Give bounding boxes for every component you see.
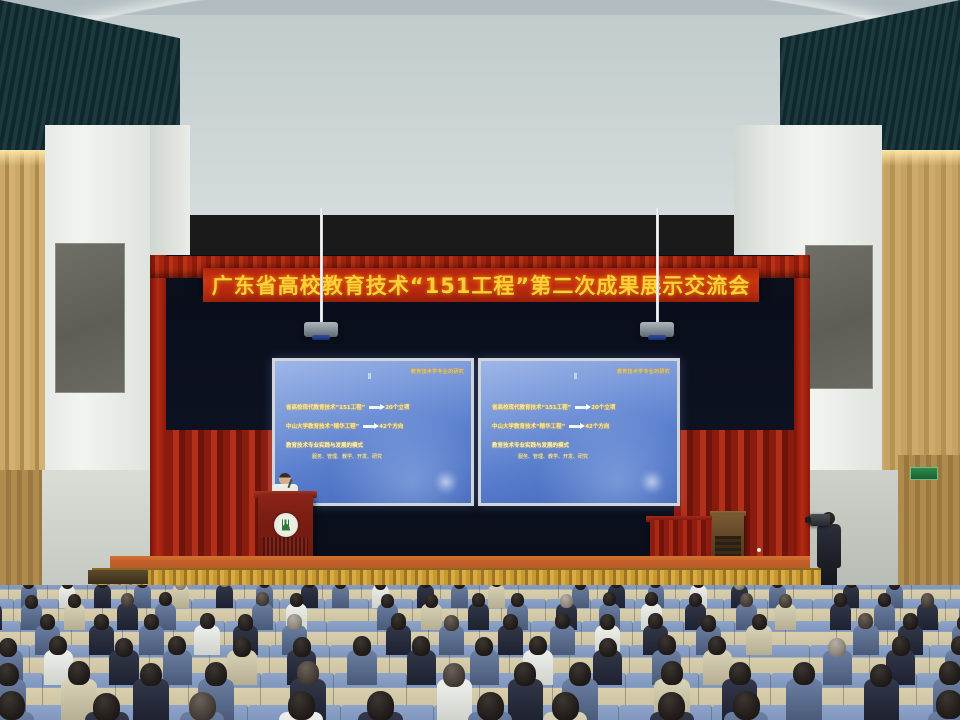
proscenium-frame-left (150, 255, 166, 575)
audience-member-head (555, 613, 570, 629)
audience-member-head (560, 594, 573, 608)
video-camera-icon (810, 514, 830, 526)
slide-row-2-text-right: 中山大学教育技术“精华工程” (492, 422, 565, 430)
audience-member-head (200, 613, 215, 629)
audience-member-head (233, 637, 251, 656)
slide-row-1-value-right: 20个立项 (591, 403, 615, 411)
slide-header-bullet-right (574, 373, 577, 379)
audience-member-head (0, 691, 25, 720)
projector-mount-right (656, 208, 659, 323)
slide-surface-left: 教育技术学专业的研究 省高校现代教育技术“151工程” 20个立项 中山大学教育… (275, 361, 471, 503)
slide-row-1-right: 省高校现代教育技术“151工程” 20个立项 (492, 403, 669, 411)
audience-member-head (40, 614, 55, 630)
audience-member-head (834, 593, 847, 607)
stage-object-4 (757, 548, 761, 552)
audience-member-head (921, 593, 934, 607)
audience-member-head (287, 614, 302, 630)
audience-member-head (475, 637, 493, 656)
audience-member-head (878, 593, 891, 607)
slide-row-1-text-left: 省高校现代教育技术“151工程” (286, 403, 365, 411)
audience-member-head (552, 692, 579, 720)
audience-member-head (892, 636, 910, 655)
audience-member-head (575, 585, 586, 590)
audience-member-head (752, 614, 767, 630)
slide-header-left: 教育技术学专业的研究 (411, 368, 464, 375)
proscenium-frame-right (794, 255, 810, 575)
slide-body-right: 省高校现代教育技术“151工程” 20个立项 中山大学教育技术“精华工程” 42… (492, 403, 669, 460)
slide-body-left: 省高校现代教育技术“151工程” 20个立项 中山大学教育技术“精华工程” 42… (286, 403, 463, 460)
audience-member-head (115, 638, 133, 657)
slide-row-2-value-right: 42个方向 (585, 422, 609, 430)
videographer-body (817, 524, 841, 568)
event-banner-text: 广东省高校教育技术“151工程”第二次成果展示交流会 (212, 270, 750, 300)
audience-member-head (159, 592, 172, 606)
audience-member-head (648, 613, 663, 629)
wood-base-left (0, 470, 42, 590)
auditorium-photo: 广东省高校教育技术“151工程”第二次成果展示交流会 教育技术学专业的研究 省高… (0, 0, 960, 720)
audience-member-head (779, 594, 792, 608)
audience-member-head (205, 662, 227, 686)
audience-member-head (689, 593, 702, 607)
audience-member-head (529, 636, 547, 655)
acoustic-panel-left (55, 243, 125, 393)
audience-member-head (68, 661, 90, 685)
audience-member-head (94, 614, 109, 630)
audience-member-head (293, 637, 311, 656)
projector-left (304, 322, 338, 337)
audience-member-head (569, 662, 591, 686)
projection-screen-right: 教育技术学专业的研究 省高校现代教育技术“151工程” 20个立项 中山大学教育… (478, 358, 680, 506)
audience-member-head (511, 593, 524, 607)
audience-member-head (599, 638, 617, 657)
projector-mount-left (320, 208, 323, 323)
arrow-icon (369, 406, 381, 409)
arrow-icon (575, 406, 587, 409)
audience-member-head (444, 615, 459, 631)
audience-member-head (381, 594, 394, 608)
audience-member-head (189, 692, 216, 720)
slide-row-2-text-left: 中山大学教育技术“精华工程” (286, 422, 359, 430)
audience-member-head (858, 613, 873, 629)
audience-member-head (425, 594, 438, 608)
slide-row-2-right: 中山大学教育技术“精华工程” 42个方向 (492, 422, 669, 430)
audience-member-head (793, 662, 815, 686)
slide-row-1-left: 省高校现代教育技术“151工程” 20个立项 (286, 403, 463, 411)
audience-member-head (658, 635, 676, 654)
audience-member-head (238, 614, 253, 630)
event-banner: 广东省高校教育技术“151工程”第二次成果展示交流会 (203, 268, 759, 302)
slide-row-2-value-left: 42个方向 (379, 422, 403, 430)
projection-screen-left: 教育技术学专业的研究 省高校现代教育技术“151工程” 20个立项 中山大学教育… (272, 358, 474, 506)
videographer (812, 512, 846, 590)
slide-decoration-right (639, 469, 665, 495)
audience-member-head (472, 593, 485, 607)
audience-member-head (168, 636, 186, 655)
audience-member-head (870, 664, 892, 688)
audience-member-head (443, 663, 465, 687)
audience-member-head (0, 663, 19, 687)
audience-member-head (68, 594, 81, 608)
projector-right (640, 322, 674, 337)
audience-member-head (353, 636, 371, 655)
audience-member-head (288, 691, 315, 720)
audience-member-head (701, 615, 716, 631)
slide-block-sub-right: 服务、管理、教学、开发、研究 (492, 453, 669, 460)
audience-member-head (367, 691, 394, 720)
slide-row-1-text-right: 省高校现代教育技术“151工程” (492, 403, 571, 411)
slide-block-title-right: 教育技术专业实践与发展的模式 (492, 441, 669, 449)
audience-member-head (603, 592, 616, 606)
slide-decoration-left (433, 469, 459, 495)
slide-row-1-value-left: 20个立项 (385, 403, 409, 411)
audience-member-head (661, 661, 683, 685)
audience-member-head (256, 592, 269, 606)
audience-member-head (903, 613, 918, 629)
audience-member-head (0, 638, 17, 657)
audience-member-head (708, 636, 726, 655)
slide-block-sub-left: 服务、管理、教学、开发、研究 (286, 453, 463, 460)
audience-member-head (729, 662, 751, 686)
audience-member-head (939, 661, 960, 685)
audience-member-head (375, 585, 386, 590)
stage-step-left (88, 570, 148, 584)
audience-member-head (140, 663, 162, 687)
audience-member-head (951, 636, 960, 655)
audience-member-head (93, 693, 120, 720)
slide-block-title-left: 教育技术专业实践与发展的模式 (286, 441, 463, 449)
audience-member-head (828, 638, 846, 657)
audience-member-head (514, 662, 536, 686)
audience-member-head (733, 691, 760, 720)
audience-member-head (936, 690, 960, 719)
projector-lens-icon (648, 335, 666, 340)
acoustic-panel-right (805, 245, 873, 389)
audience-member-head (734, 585, 745, 590)
audience-area (0, 585, 960, 720)
slide-row-2-left: 中山大学教育技术“精华工程” 42个方向 (286, 422, 463, 430)
audience-member-head (658, 692, 685, 720)
audience-member-head (600, 614, 615, 630)
audience-member-head (25, 595, 38, 609)
audience-member-head (391, 613, 406, 629)
audience-member-head (297, 661, 319, 685)
audience-member-head (290, 593, 303, 607)
projector-lens-icon (312, 335, 330, 340)
slide-header-right: 教育技术学专业的研究 (617, 368, 670, 375)
slide-header-bullet-left (368, 373, 371, 379)
audience-member-head (144, 614, 159, 630)
arrow-icon (363, 425, 375, 428)
exit-sign-icon (910, 467, 938, 480)
audience-member-head (477, 692, 504, 720)
audience-people-row-6 (0, 690, 960, 720)
audience-member-head (503, 614, 518, 630)
audience-member-head (49, 636, 67, 655)
podium-emblem (274, 513, 298, 537)
arrow-icon (569, 425, 581, 428)
audience-member-head (740, 593, 753, 607)
slide-surface-right: 教育技术学专业的研究 省高校现代教育技术“151工程” 20个立项 中山大学教育… (481, 361, 677, 503)
crest-icon (279, 520, 292, 531)
audience-member-head (412, 636, 430, 655)
audience-member-head (121, 593, 134, 607)
